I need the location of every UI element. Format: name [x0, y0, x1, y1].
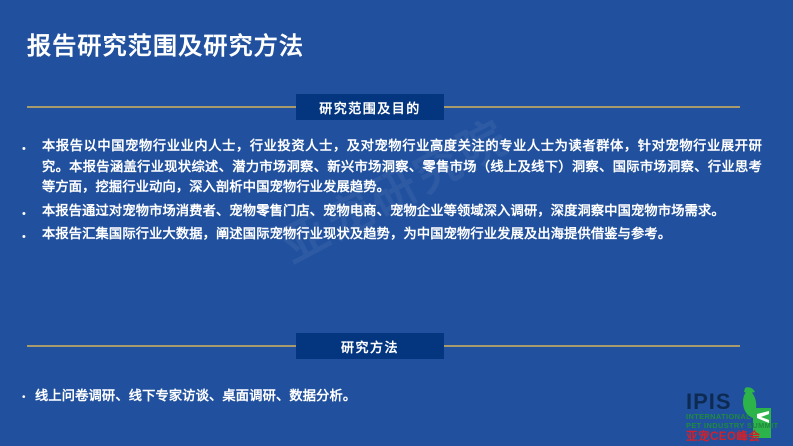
list-item: • 本报告通过对宠物市场消费者、宠物零售门店、宠物电商、宠物企业等领域深入调研，…	[22, 201, 762, 222]
ipis-logo: IPIS INTERNATIONAL PET INDUSTRY SUMMIT 亚…	[683, 384, 789, 444]
section-header-method: 研究方法	[0, 333, 793, 359]
section-header-scope: 研究范围及目的	[0, 94, 793, 120]
logo-acronym: IPIS	[686, 389, 732, 414]
section-header-label: 研究范围及目的	[319, 98, 421, 117]
section-header-chip: 研究范围及目的	[296, 94, 444, 120]
logo-chinese: 亚宠CEO峰会	[686, 429, 760, 443]
pet-mark-ear-icon	[744, 387, 755, 393]
bullet-marker-icon: •	[22, 224, 42, 243]
bullet-text: 本报告通过对宠物市场消费者、宠物零售门店、宠物电商、宠物企业等领域深入调研，深度…	[42, 201, 762, 222]
bullet-marker-icon: •	[22, 386, 35, 403]
list-item: • 本报告汇集国际行业大数据，阐述国际宠物行业现状及趋势，为中国宠物行业发展及出…	[22, 224, 762, 245]
section-header-chip: 研究方法	[296, 333, 444, 359]
bullet-text: 本报告汇集国际行业大数据，阐述国际宠物行业现状及趋势，为中国宠物行业发展及出海提…	[42, 224, 762, 245]
slide-canvas: 亚宠研究院 报告研究范围及研究方法 研究范围及目的 • 本报告以中国宠物行业业内…	[0, 0, 793, 446]
bullet-text: 本报告以中国宠物行业业内人士，行业投资人士，及对宠物行业高度关注的专业人士为读者…	[42, 136, 762, 198]
section-header-label: 研究方法	[341, 337, 399, 356]
page-title: 报告研究范围及研究方法	[27, 26, 304, 61]
bullet-marker-icon: •	[22, 136, 42, 155]
list-item: • 线上问卷调研、线下专家访谈、桌面调研、数据分析。	[22, 386, 762, 407]
logo-tagline-line1: INTERNATIONAL	[686, 412, 751, 421]
bullet-list-method: • 线上问卷调研、线下专家访谈、桌面调研、数据分析。	[22, 386, 762, 410]
list-item: • 本报告以中国宠物行业业内人士，行业投资人士，及对宠物行业高度关注的专业人士为…	[22, 136, 762, 198]
logo-tagline-line2: PET INDUSTRY SUMMIT	[686, 421, 779, 430]
bullet-marker-icon: •	[22, 201, 42, 220]
bullet-text: 线上问卷调研、线下专家访谈、桌面调研、数据分析。	[35, 386, 762, 407]
bullet-list-scope: • 本报告以中国宠物行业业内人士，行业投资人士，及对宠物行业高度关注的专业人士为…	[22, 136, 762, 248]
